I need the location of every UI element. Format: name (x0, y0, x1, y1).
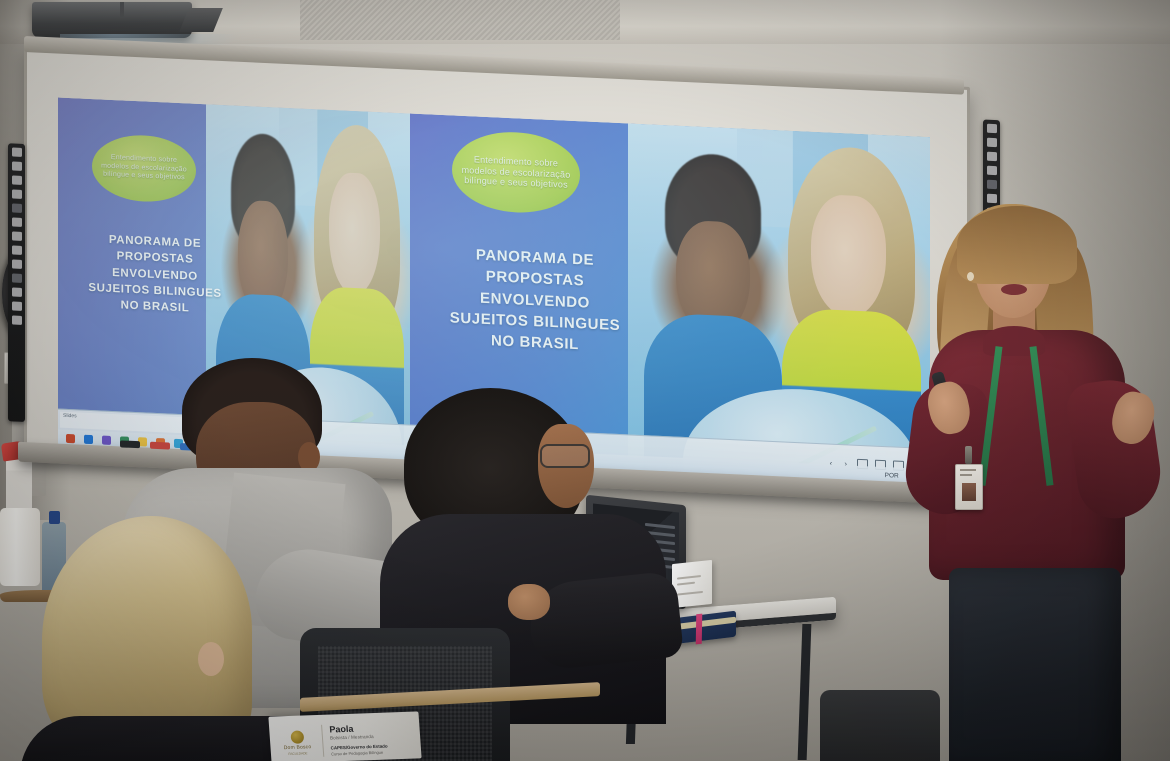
whiteboard-tool-button[interactable] (987, 124, 997, 133)
attendee-org-line2: Curso de Pedagogia Bilíngue (331, 750, 383, 757)
whiteboard-tool-button[interactable] (987, 180, 997, 189)
attendee-glasses (540, 444, 590, 468)
whiteboard-tool-button[interactable] (12, 175, 22, 184)
card-divider (321, 725, 324, 757)
whiteboard-tool-button[interactable] (12, 273, 22, 282)
presenter-earring (967, 272, 974, 281)
slide-title: PANORAMA DE PROPOSTAS ENVOLVENDO SUJEITO… (440, 243, 630, 358)
badge-clip (965, 446, 972, 464)
whiteboard-tool-button[interactable] (12, 245, 22, 254)
presenter-lanyard (987, 346, 1045, 496)
presenter-id-badge (955, 464, 983, 510)
whiteboard-tool-button[interactable] (12, 203, 22, 212)
whiteboard-tool-button[interactable] (987, 138, 997, 147)
presenter (905, 196, 1170, 761)
whiteboard-marker[interactable] (120, 440, 140, 448)
badge-photo (962, 483, 976, 501)
whiteboard-tool-button[interactable] (987, 166, 997, 175)
attendee-ear (198, 642, 224, 676)
badge-text-line (960, 469, 976, 471)
whiteboard-tool-button[interactable] (12, 259, 22, 268)
presenter-skirt (949, 568, 1121, 761)
whiteboard-tool-button[interactable] (12, 189, 22, 198)
attendee-hand (508, 584, 550, 620)
whiteboard-tool-button[interactable] (12, 161, 22, 170)
logo-subtext: FACULDADE (288, 751, 307, 756)
teams-icon[interactable] (102, 435, 111, 444)
whiteboard-tool-button[interactable] (12, 147, 22, 156)
ceiling-tile (300, 0, 620, 40)
whiteboard-tool-button[interactable] (12, 315, 22, 324)
whiteboard-tool-button[interactable] (987, 152, 997, 161)
powerpoint-icon[interactable] (66, 433, 75, 442)
whiteboard-tool-button[interactable] (12, 287, 22, 296)
onedrive-icon[interactable] (84, 434, 93, 443)
presenter-hair-front (957, 206, 1077, 284)
projector-mount (120, 2, 124, 18)
presenter-mouth (1001, 284, 1027, 295)
language-indicator[interactable]: POR (885, 472, 899, 480)
slide-title: PANORAMA DE PROPOSTAS ENVOLVENDO SUJEITO… (80, 231, 230, 319)
whiteboard-tool-palette-left[interactable] (8, 143, 25, 422)
institution-logo: Dom Bosco FACULDADE (279, 727, 315, 758)
whiteboard-tool-button[interactable] (12, 217, 22, 226)
badge-text-line (960, 474, 972, 476)
notebook-elastic-band (696, 614, 703, 645)
card-text-line (677, 575, 701, 580)
chair-right (820, 690, 940, 761)
logo-seal-icon (290, 730, 304, 743)
whiteboard-tool-button[interactable] (12, 301, 22, 310)
whiteboard-tool-button[interactable] (12, 231, 22, 240)
classroom-photo-scene: Entendimento sobre modelos de escolariza… (0, 0, 1170, 761)
name-tent-card: Dom Bosco FACULDADE Paola Bolsista / Mes… (268, 711, 421, 761)
logo-text: Dom Bosco (284, 744, 312, 751)
card-text-line (677, 591, 703, 596)
ceiling-projector (32, 2, 192, 38)
attendee-role: Bolsista / Mestranda (330, 734, 374, 741)
attendee-name: Paola (329, 724, 354, 735)
